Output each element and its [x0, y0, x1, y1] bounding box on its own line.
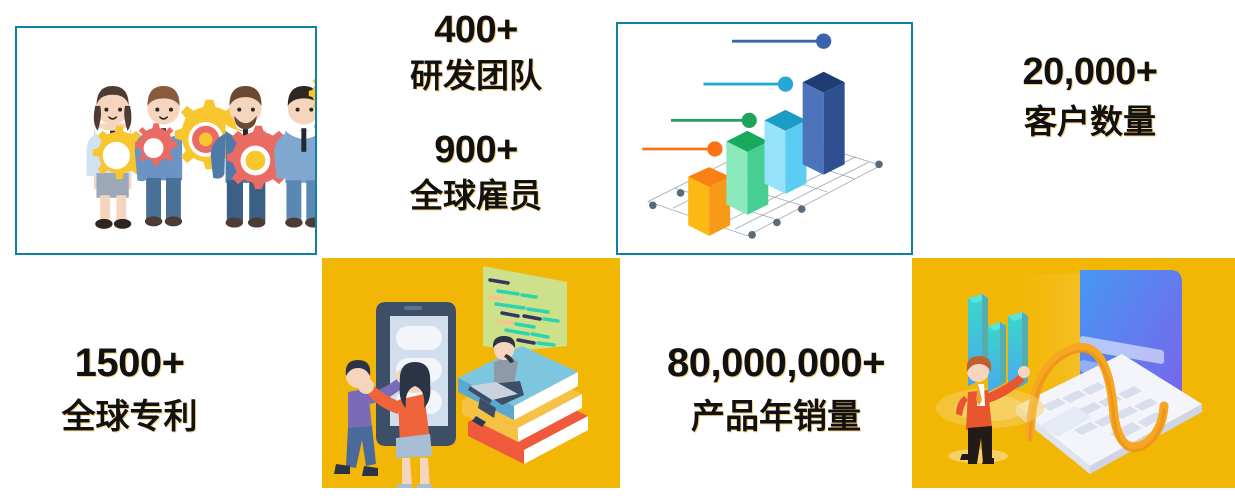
infographic-canvas: 400+ 研发团队 900+ 全球雇员	[0, 0, 1235, 502]
stat-annual-sales-number: 80,000,000+	[640, 340, 912, 387]
stat-customers-number: 20,000+	[975, 50, 1205, 95]
marker-2	[671, 113, 757, 128]
teamwork-gears-illustration	[17, 30, 315, 255]
stat-rd-team: 400+ 研发团队	[378, 8, 574, 96]
bar-4	[803, 72, 845, 175]
stat-global-staff-label: 全球雇员	[378, 177, 574, 216]
marker-4	[732, 34, 831, 49]
mobile-learning-illustration	[322, 258, 620, 488]
bar-chart-panel	[616, 22, 913, 255]
stat-global-staff: 900+ 全球雇员	[378, 128, 574, 216]
stat-customers-label: 客户数量	[975, 103, 1205, 142]
stat-rd-team-number: 400+	[378, 8, 574, 53]
stat-global-patents: 1500+ 全球专利	[22, 340, 237, 437]
stat-global-staff-number: 900+	[378, 128, 574, 173]
gear-red-1	[135, 123, 177, 165]
isometric-bar-chart-illustration	[618, 24, 911, 253]
stat-global-patents-number: 1500+	[22, 340, 237, 387]
stat-annual-sales: 80,000,000+ 产品年销量	[640, 340, 912, 437]
bar-1	[688, 167, 730, 236]
laptop-analytics-illustration	[912, 258, 1235, 488]
book-stack	[458, 346, 588, 464]
teamwork-gears-panel	[15, 26, 317, 255]
marker-1	[642, 141, 722, 156]
bar-3	[765, 110, 807, 194]
stat-rd-team-label: 研发团队	[378, 57, 574, 96]
bar-2	[726, 131, 768, 215]
stat-annual-sales-label: 产品年销量	[640, 397, 912, 437]
person-man-4	[274, 86, 315, 228]
marker-3	[703, 76, 793, 91]
stat-customers: 20,000+ 客户数量	[975, 50, 1205, 142]
data-analytics-panel	[912, 258, 1235, 488]
mobile-learning-panel	[322, 258, 620, 488]
stat-global-patents-label: 全球专利	[22, 397, 237, 437]
